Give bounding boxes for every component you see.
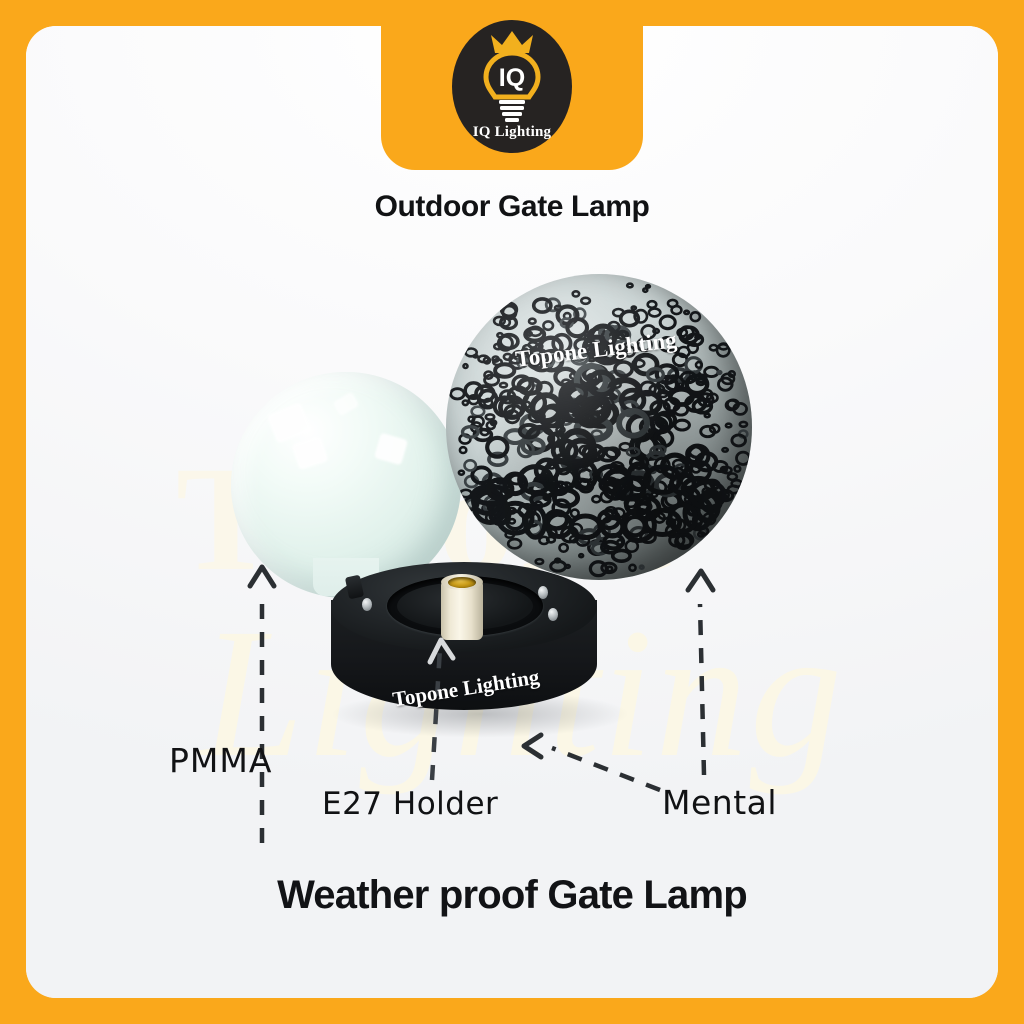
logo-wordmark: IQ Lighting	[473, 124, 551, 141]
product-infographic: Topone Lighting	[0, 0, 1024, 1024]
brand-logo: IQ IQ Lighting	[452, 20, 572, 153]
label-pmma: PMMA	[169, 741, 272, 780]
pmma-highlight	[292, 436, 329, 470]
base-screw	[548, 608, 558, 621]
pmma-highlight	[374, 433, 408, 466]
metal-ball-shade	[446, 274, 752, 580]
lightbulb-icon: IQ	[471, 27, 553, 123]
e27-holder	[441, 572, 483, 640]
page-title-bottom: Weather proof Gate Lamp	[0, 873, 1024, 918]
page-title-top: Outdoor Gate Lamp	[0, 190, 1024, 224]
perforation-pattern-icon	[446, 274, 752, 580]
base-screw	[362, 598, 372, 611]
base-screw	[538, 586, 548, 599]
pmma-highlight	[332, 392, 359, 417]
label-e27-holder: E27 Holder	[322, 786, 498, 822]
label-mental: Mental	[662, 783, 777, 822]
e27-brass-thread	[448, 577, 476, 588]
crown-icon	[491, 31, 533, 53]
pmma-highlight	[267, 402, 312, 443]
svg-text:IQ: IQ	[499, 64, 525, 92]
